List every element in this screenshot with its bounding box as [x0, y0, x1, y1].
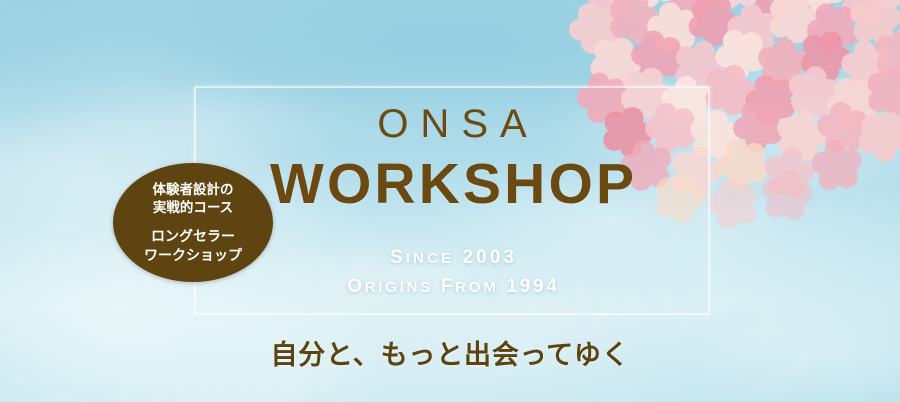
badge-group-course: 体験者設計の 実戦的コース [153, 181, 234, 216]
established-years: SINCE 2003 ORIGINS FROM 1994 [345, 243, 560, 302]
product-title: WORKSHOP [267, 156, 637, 213]
title-block: ONSA WORKSHOP SINCE 2003 ORIGINS FROM 19… [194, 86, 710, 315]
badge-line-3: ロングセラー [144, 227, 242, 245]
origins-line: ORIGINS FROM 1994 [345, 272, 560, 301]
badge-line-1: 体験者設計の [153, 181, 234, 199]
brand-name: ONSA [365, 104, 538, 144]
hero-banner: ONSA WORKSHOP SINCE 2003 ORIGINS FROM 19… [0, 0, 900, 402]
promo-badge: 体験者設計の 実戦的コース ロングセラー ワークショップ [113, 163, 273, 282]
badge-line-2: 実戦的コース [153, 199, 234, 217]
since-line: SINCE 2003 [345, 243, 560, 272]
tagline: 自分と、もっと出会ってゆく [0, 333, 900, 372]
badge-group-longseller: ロングセラー ワークショップ [144, 227, 242, 263]
badge-line-4: ワークショップ [144, 246, 242, 264]
